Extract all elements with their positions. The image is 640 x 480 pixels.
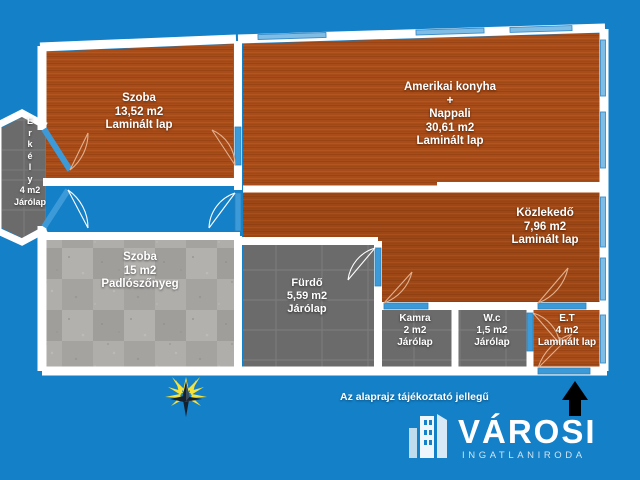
window-right-3: [601, 197, 606, 247]
window-right-2: [601, 112, 606, 168]
erkely-letter-0: E: [8, 116, 52, 128]
erkely-letter-3: é: [8, 151, 52, 163]
company-logo: VÁROSI INGATLANIRODA: [406, 414, 632, 470]
erkely-area: 4 m2: [8, 185, 52, 197]
room-label-erkely: E r k é l y 4 m2 Járólap: [8, 116, 52, 208]
floor-szoba-2: [46, 240, 234, 367]
logo-subtitle: INGATLANIRODA: [462, 450, 586, 461]
disclaimer-text: Az alaprajz tájékoztató jellegű: [340, 391, 489, 403]
window-right-4: [601, 258, 606, 300]
door-entrance: [538, 368, 590, 374]
door-kamra: [384, 303, 428, 309]
erkely-floor: Járólap: [8, 197, 52, 209]
floor-nappali: [243, 33, 601, 186]
door-szoba2-hall: [235, 193, 241, 231]
door-szoba1-nappali: [235, 127, 241, 165]
window-right-1: [601, 40, 606, 96]
erkely-letter-4: l: [8, 162, 52, 174]
erkely-letter-2: k: [8, 139, 52, 151]
erkely-letter-5: y: [8, 174, 52, 186]
window-right-5: [601, 315, 606, 363]
floor-wc: [457, 310, 527, 367]
door-furdo: [375, 248, 381, 286]
erkely-letter-1: r: [8, 128, 52, 140]
floor-szoba-1: [46, 44, 233, 178]
door-et-top: [538, 303, 586, 309]
floor-plan: [0, 0, 640, 480]
logo-wordmark: VÁROSI: [458, 414, 597, 450]
floor-kamra: [377, 310, 452, 367]
door-wc: [527, 313, 533, 351]
